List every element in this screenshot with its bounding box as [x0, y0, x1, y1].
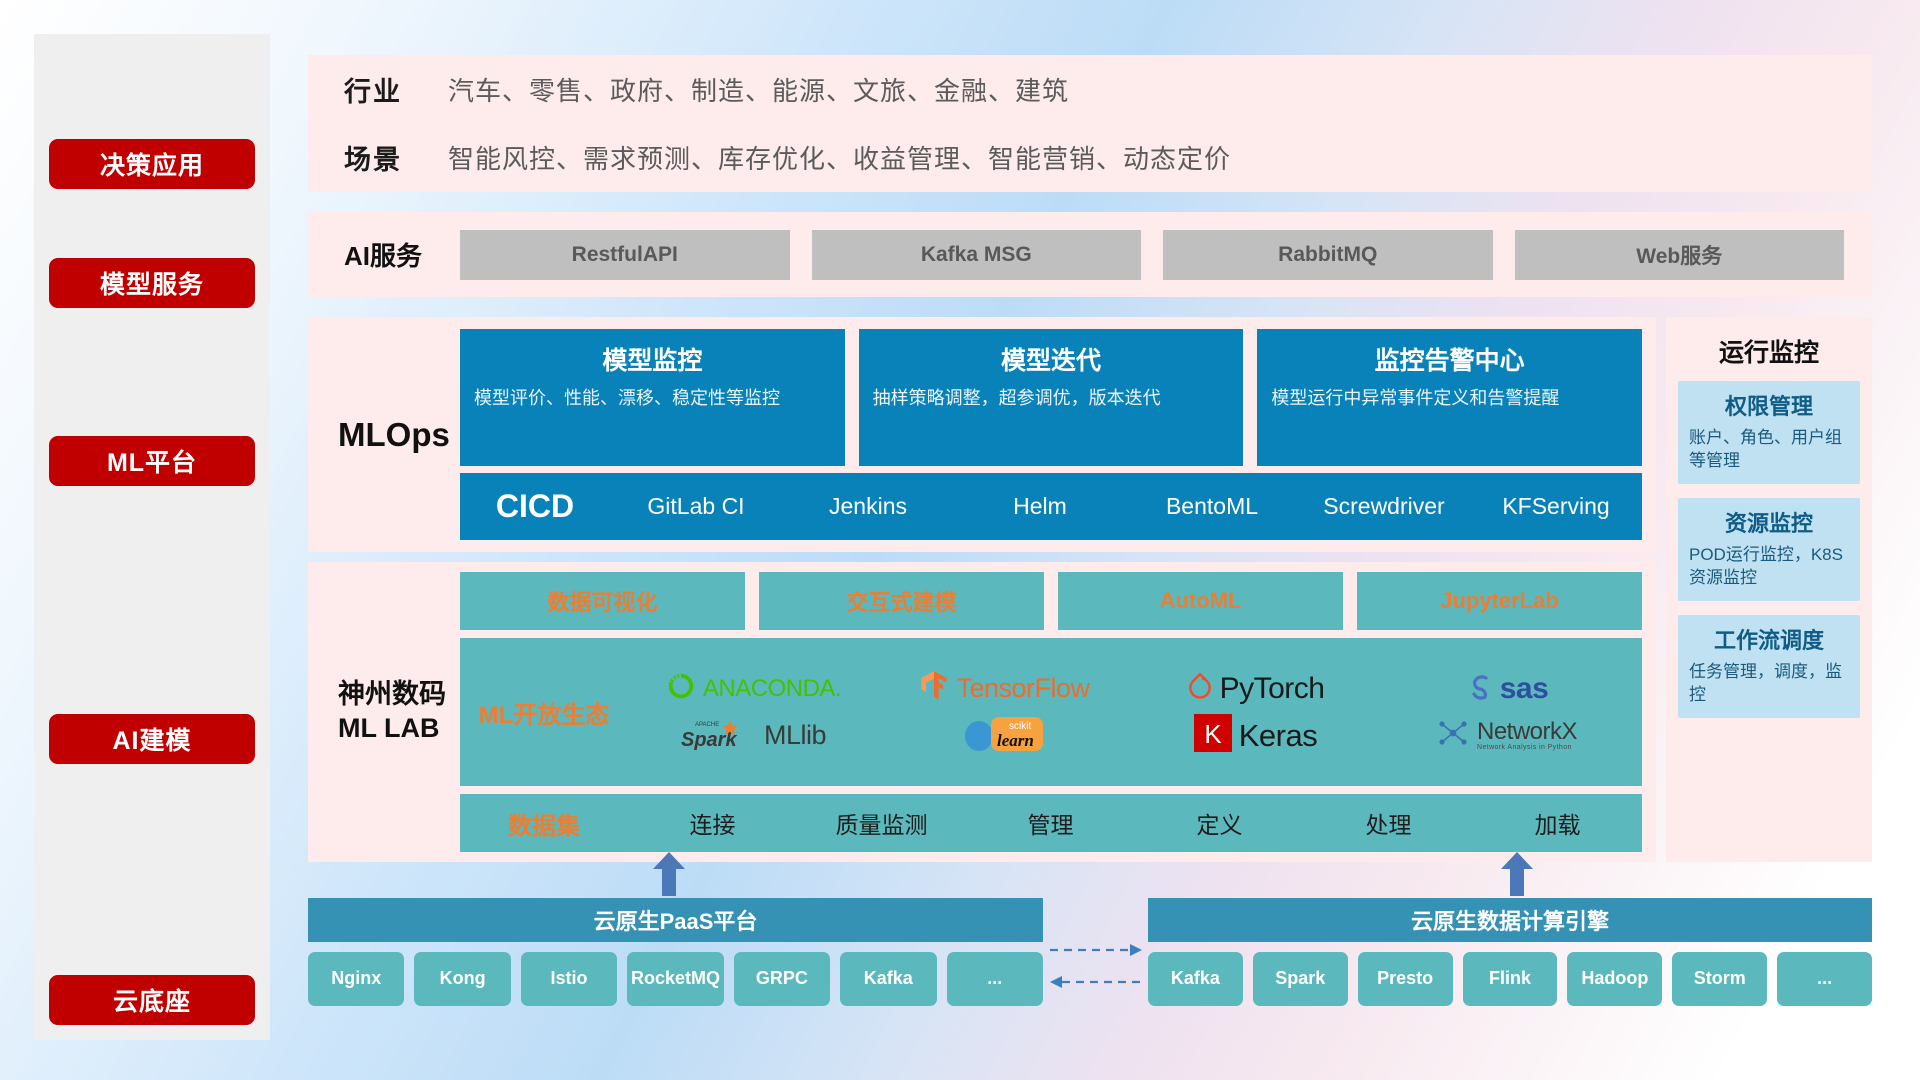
ops-card-resource-monitoring[interactable]: 资源监控 POD运行监控，K8S资源监控: [1678, 498, 1860, 601]
logo-spark-mllib: APACHE Spark MLlib: [681, 716, 826, 755]
card-desc: 模型评价、性能、漂移、稳定性等监控: [474, 386, 831, 412]
dataset-item-manage[interactable]: 管理: [966, 806, 1135, 840]
cicd-item-jenkins[interactable]: Jenkins: [782, 494, 954, 520]
rail-item-ai-modeling[interactable]: AI建模: [49, 714, 255, 764]
up-arrow-icon-left: [652, 852, 686, 896]
logo-tensorflow: TensorFlow: [919, 670, 1089, 707]
logo-label: MLlib: [764, 720, 826, 751]
ai-modeling-band: 神州数码 ML LAB 数据可视化 交互式建模 AutoML JupyterLa…: [308, 562, 1656, 862]
card-title: 监控告警中心: [1271, 341, 1628, 377]
cloud-chip-more-left[interactable]: ...: [947, 952, 1043, 1006]
ai-service-chip-list: RestfulAPI Kafka MSG RabbitMQ Web服务: [460, 230, 1872, 280]
runtime-monitoring-panel: 运行监控 权限管理 账户、角色、用户组等管理 资源监控 POD运行监控，K8S资…: [1666, 317, 1872, 862]
ml-ecosystem-label: ML开放生态: [460, 695, 628, 730]
sas-icon: [1465, 672, 1493, 705]
scenario-row: 场景 智能风控、需求预测、库存优化、收益管理、智能营销、动态定价: [308, 123, 1872, 191]
bidirectional-dashed-link-icon: [1048, 936, 1144, 996]
cloud-native-data-engine-group: 云原生数据计算引擎 Kafka Spark Presto Flink Hadoo…: [1148, 898, 1872, 1006]
cicd-item-bentoml[interactable]: BentoML: [1126, 494, 1298, 520]
modeling-tool-list: 数据可视化 交互式建模 AutoML JupyterLab: [460, 572, 1642, 630]
card-title: 模型迭代: [873, 341, 1230, 377]
ops-panel-title: 运行监控: [1666, 317, 1872, 381]
cloud-chip-more-right[interactable]: ...: [1777, 952, 1872, 1006]
tool-chip-automl[interactable]: AutoML: [1058, 572, 1343, 630]
cicd-item-kfserving[interactable]: KFServing: [1470, 494, 1642, 520]
logo-label: TensorFlow: [956, 673, 1089, 704]
ops-card-desc: 账户、角色、用户组等管理: [1689, 426, 1849, 473]
ai-service-band: AI服务 RestfulAPI Kafka MSG RabbitMQ Web服务: [308, 212, 1872, 297]
industry-value: 汽车、零售、政府、制造、能源、文旅、金融、建筑: [448, 71, 1069, 108]
cloud-native-paas-group: 云原生PaaS平台 Nginx Kong Istio RocketMQ GRPC…: [308, 898, 1043, 1006]
cloud-chip-rocketmq[interactable]: RocketMQ: [627, 952, 723, 1006]
ops-card-title: 权限管理: [1689, 389, 1849, 421]
scenario-key: 场景: [344, 138, 448, 177]
ai-modeling-content: 数据可视化 交互式建模 AutoML JupyterLab ML开放生态 ANA…: [460, 562, 1656, 862]
cicd-bar: CICD GitLab CI Jenkins Helm BentoML Scre…: [460, 473, 1642, 540]
mlops-card-model-iteration[interactable]: 模型迭代 抽样策略调整，超参调优，版本迭代: [859, 329, 1244, 466]
industry-row: 行业 汽车、零售、政府、制造、能源、文旅、金融、建筑: [308, 55, 1872, 123]
keras-icon: K: [1194, 714, 1232, 757]
cloud-chip-presto[interactable]: Presto: [1358, 952, 1453, 1006]
cloud-chip-nginx[interactable]: Nginx: [308, 952, 404, 1006]
ml-ecosystem-row: ML开放生态 ANACONDA. TensorFlow: [460, 638, 1642, 787]
rail-item-label: ML平台: [107, 443, 197, 479]
logo-label: NetworkX: [1477, 720, 1577, 744]
ai-service-label: AI服务: [308, 236, 460, 273]
tensorflow-icon: [919, 670, 949, 707]
cloud-chip-flink[interactable]: Flink: [1463, 952, 1558, 1006]
card-desc: 抽样策略调整，超参调优，版本迭代: [873, 386, 1230, 412]
dataset-item-quality-monitoring[interactable]: 质量监测: [797, 806, 966, 840]
cicd-item-gitlab-ci[interactable]: GitLab CI: [610, 494, 782, 520]
mlops-label: MLOps: [308, 317, 460, 552]
cicd-title: CICD: [460, 488, 610, 525]
rail-item-cloud-base[interactable]: 云底座: [49, 975, 255, 1025]
tool-chip-interactive-modeling[interactable]: 交互式建模: [759, 572, 1044, 630]
ops-card-permission-management[interactable]: 权限管理 账户、角色、用户组等管理: [1678, 381, 1860, 484]
scikit-learn-icon: scikit learn: [959, 712, 1051, 759]
cloud-paas-chip-list: Nginx Kong Istio RocketMQ GRPC Kafka ...: [308, 952, 1043, 1006]
logo-label: PyTorch: [1220, 672, 1325, 706]
ops-card-desc: 任务管理，调度，监控: [1689, 660, 1849, 707]
dataset-item-list: 连接 质量监测 管理 定义 处理 加载: [628, 806, 1642, 840]
card-title: 模型监控: [474, 341, 831, 377]
dataset-item-process[interactable]: 处理: [1304, 806, 1473, 840]
cloud-paas-title: 云原生PaaS平台: [308, 898, 1043, 942]
mlops-card-alert-center[interactable]: 监控告警中心 模型运行中异常事件定义和告警提醒: [1257, 329, 1642, 466]
dataset-item-load[interactable]: 加载: [1473, 806, 1642, 840]
service-chip-web-service[interactable]: Web服务: [1515, 230, 1845, 280]
card-desc: 模型运行中异常事件定义和告警提醒: [1271, 386, 1628, 412]
logo-networkx: NetworkX Network Analysis in Python: [1436, 716, 1577, 755]
mlops-card-list: 模型监控 模型评价、性能、漂移、稳定性等监控 模型迭代 抽样策略调整，超参调优，…: [460, 329, 1642, 466]
spark-icon: APACHE Spark: [681, 716, 757, 755]
ml-lab-label: 神州数码 ML LAB: [308, 562, 460, 862]
cloud-chip-kafka-r[interactable]: Kafka: [1148, 952, 1243, 1006]
cloud-data-engine-title: 云原生数据计算引擎: [1148, 898, 1872, 942]
service-chip-kafka-msg[interactable]: Kafka MSG: [812, 230, 1142, 280]
industry-scenario-band: 行业 汽车、零售、政府、制造、能源、文旅、金融、建筑 场景 智能风控、需求预测、…: [308, 55, 1872, 192]
anaconda-icon: [666, 671, 696, 706]
ops-card-workflow-scheduling[interactable]: 工作流调度 任务管理，调度，监控: [1678, 615, 1860, 718]
logo-label: sas: [1500, 672, 1549, 706]
dataset-item-connect[interactable]: 连接: [628, 806, 797, 840]
rail-item-label: AI建模: [112, 721, 191, 757]
logo-label: ANACONDA.: [703, 675, 841, 703]
rail-item-label: 云底座: [113, 982, 191, 1018]
logo-scikit-learn: scikit learn: [959, 712, 1051, 759]
rail-item-decision-app[interactable]: 决策应用: [49, 139, 255, 189]
ml-lab-label-line2: ML LAB: [338, 712, 460, 746]
service-chip-rabbitmq[interactable]: RabbitMQ: [1163, 230, 1493, 280]
cloud-chip-kafka[interactable]: Kafka: [840, 952, 936, 1006]
service-chip-restfulapi[interactable]: RestfulAPI: [460, 230, 790, 280]
rail-item-label: 决策应用: [100, 146, 204, 182]
networkx-icon: [1436, 716, 1470, 755]
up-arrow-icon-right: [1500, 852, 1534, 896]
tool-chip-data-visualization[interactable]: 数据可视化: [460, 572, 745, 630]
rail-item-ml-platform[interactable]: ML平台: [49, 436, 255, 486]
cicd-item-helm[interactable]: Helm: [954, 494, 1126, 520]
ops-card-title: 资源监控: [1689, 506, 1849, 538]
ops-card-title: 工作流调度: [1689, 623, 1849, 655]
logo-keras: K Keras: [1194, 714, 1317, 757]
cloud-chip-spark[interactable]: Spark: [1253, 952, 1348, 1006]
logo-anaconda: ANACONDA.: [666, 671, 841, 706]
rail-item-label: 模型服务: [100, 265, 204, 301]
cicd-item-screwdriver[interactable]: Screwdriver: [1298, 494, 1470, 520]
industry-key: 行业: [344, 70, 448, 109]
cloud-chip-grpc[interactable]: GRPC: [734, 952, 830, 1006]
cloud-data-engine-chip-list: Kafka Spark Presto Flink Hadoop Storm ..…: [1148, 952, 1872, 1006]
dataset-row: 数据集 连接 质量监测 管理 定义 处理 加载: [460, 794, 1642, 852]
cloud-chip-istio[interactable]: Istio: [521, 952, 617, 1006]
dataset-label: 数据集: [460, 806, 628, 841]
pytorch-icon: [1187, 671, 1213, 706]
svg-text:K: K: [1204, 719, 1222, 749]
dataset-item-define[interactable]: 定义: [1135, 806, 1304, 840]
scenario-value: 智能风控、需求预测、库存优化、收益管理、智能营销、动态定价: [448, 139, 1231, 176]
left-rail: 决策应用 模型服务 ML平台 AI建模 云底座: [34, 34, 270, 1040]
cloud-chip-storm[interactable]: Storm: [1672, 952, 1767, 1006]
tool-chip-jupyterlab[interactable]: JupyterLab: [1357, 572, 1642, 630]
svg-text:learn: learn: [997, 731, 1034, 750]
ml-ecosystem-logo-grid: ANACONDA. TensorFlow PyTorch: [628, 665, 1642, 759]
ml-lab-label-line1: 神州数码: [338, 678, 460, 712]
rail-item-model-service[interactable]: 模型服务: [49, 258, 255, 308]
logo-pytorch: PyTorch: [1187, 671, 1325, 706]
cloud-chip-kong[interactable]: Kong: [414, 952, 510, 1006]
mlops-band: MLOps 模型监控 模型评价、性能、漂移、稳定性等监控 模型迭代 抽样策略调整…: [308, 317, 1656, 552]
mlops-card-model-monitoring[interactable]: 模型监控 模型评价、性能、漂移、稳定性等监控: [460, 329, 845, 466]
svg-text:APACHE: APACHE: [695, 722, 719, 728]
ops-card-desc: POD运行监控，K8S资源监控: [1689, 543, 1849, 590]
logo-label: Keras: [1239, 718, 1317, 754]
logo-sas: sas: [1465, 672, 1549, 706]
cicd-item-list: GitLab CI Jenkins Helm BentoML Screwdriv…: [610, 494, 1642, 520]
mlops-content: 模型监控 模型评价、性能、漂移、稳定性等监控 模型迭代 抽样策略调整，超参调优，…: [460, 317, 1656, 552]
networkx-tagline: Network Analysis in Python: [1477, 744, 1577, 751]
cloud-chip-hadoop[interactable]: Hadoop: [1567, 952, 1662, 1006]
